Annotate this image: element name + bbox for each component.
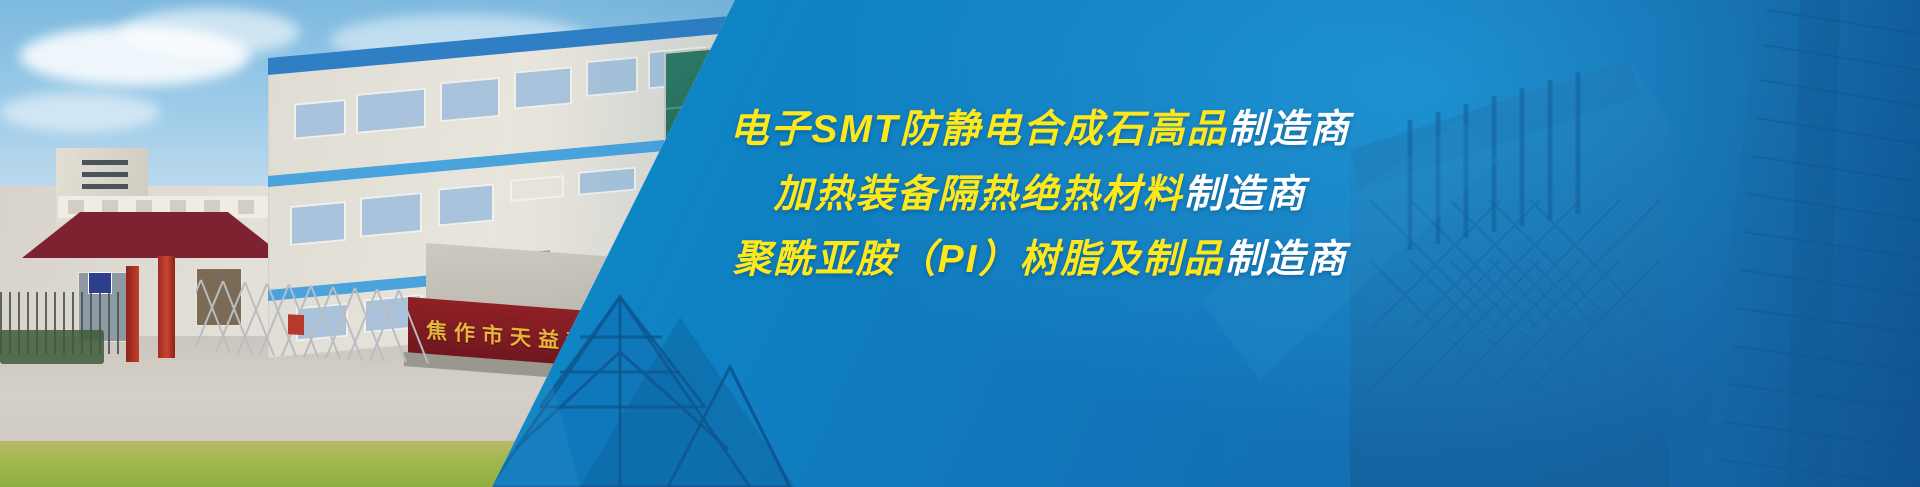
headline-line-1-highlight: 电子SMT防静电合成石高品 xyxy=(729,108,1227,151)
headline-line-1: 电子SMT防静电合成石高品制造商 xyxy=(690,110,1390,149)
hero-banner: 焦作市天益科技有限公司 xyxy=(0,0,1920,487)
headline-line-2-plain: 制造商 xyxy=(1184,173,1307,216)
headline-line-2-highlight: 加热装备隔热绝热材料 xyxy=(773,173,1183,216)
canopy-pillar xyxy=(158,256,175,358)
headline-block: 电子SMT防静电合成石高品制造商 加热装备隔热绝热材料制造商 聚酰亚胺（PI）树… xyxy=(690,110,1390,279)
wall-plaque xyxy=(88,272,112,294)
headline-line-3-highlight: 聚酰亚胺（PI）树脂及制品 xyxy=(733,238,1225,281)
headline-line-2: 加热装备隔热绝热材料制造商 xyxy=(690,175,1390,214)
hedge xyxy=(0,330,104,364)
headline-line-3-plain: 制造商 xyxy=(1224,238,1347,281)
retractable-gate xyxy=(196,279,446,364)
gate-post xyxy=(126,266,139,362)
headline-line-1-plain: 制造商 xyxy=(1228,108,1351,151)
headline-line-3: 聚酰亚胺（PI）树脂及制品制造商 xyxy=(690,240,1390,279)
